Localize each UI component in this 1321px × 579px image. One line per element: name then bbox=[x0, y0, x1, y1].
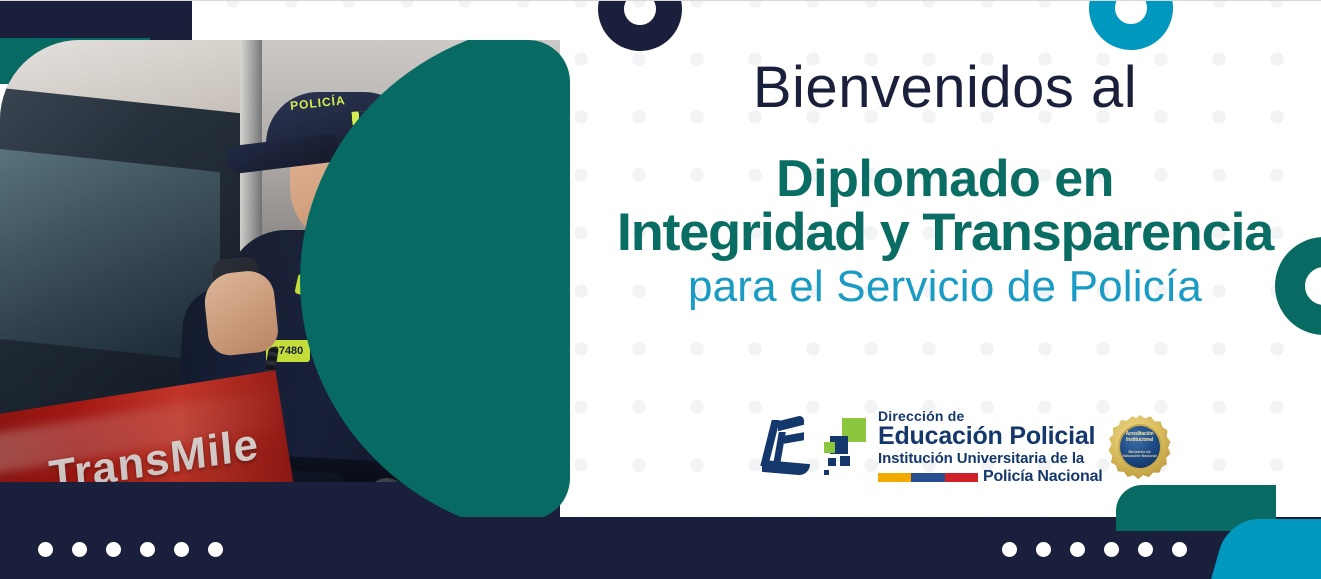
seal-text-secondary: Ministerio de Educación Nacional bbox=[1120, 450, 1160, 459]
book-page-4 bbox=[784, 432, 804, 444]
logo-line-2: Educación Policial bbox=[878, 424, 1103, 449]
course-title-group: Diplomado en Integridad y Transparencia … bbox=[600, 153, 1290, 311]
bottom-dot bbox=[38, 542, 53, 557]
institution-logo: Dirección de Educación Policial Instituc… bbox=[760, 404, 1140, 490]
logo-text-block: Dirección de Educación Policial Instituc… bbox=[878, 409, 1103, 485]
course-subtitle: para el Servicio de Policía bbox=[600, 263, 1290, 311]
flag-stripe-red bbox=[945, 473, 978, 482]
open-book-icon bbox=[760, 416, 816, 478]
pixel-blocks-icon bbox=[822, 416, 872, 478]
bottom-dot bbox=[1172, 542, 1187, 557]
bottom-dot bbox=[1104, 542, 1119, 557]
bottom-dot bbox=[1036, 542, 1051, 557]
pixel-navy-dot bbox=[824, 470, 829, 475]
bottom-dot bbox=[1002, 542, 1017, 557]
bottom-dots-right bbox=[1002, 542, 1187, 557]
flag-stripe-blue bbox=[911, 473, 944, 482]
welcome-text: Bienvenidos al bbox=[600, 58, 1290, 119]
bottom-dot bbox=[140, 542, 155, 557]
course-title-line-1: Diplomado en bbox=[600, 153, 1290, 205]
pixel-green-small bbox=[824, 442, 835, 453]
bottom-dot bbox=[106, 542, 121, 557]
seal-inner-disc: Acreditación Institucional Ministerio de… bbox=[1118, 424, 1162, 470]
bottom-dot bbox=[1138, 542, 1153, 557]
logo-line-3: Institución Universitaria de la bbox=[878, 451, 1103, 466]
book-base bbox=[762, 460, 810, 476]
course-title-line-2: Integridad y Transparencia bbox=[593, 205, 1297, 261]
pixel-navy-small bbox=[828, 458, 836, 466]
bottom-dot bbox=[208, 542, 223, 557]
top-border-line bbox=[0, 0, 1321, 1]
colombia-flag-bar bbox=[878, 473, 978, 482]
flag-stripe-yellow bbox=[878, 473, 911, 482]
bottom-dot bbox=[72, 542, 87, 557]
logo-line-1: Dirección de bbox=[878, 409, 1103, 423]
accreditation-seal-icon: Acreditación Institucional Ministerio de… bbox=[1109, 415, 1171, 479]
pixel-navy-tiny bbox=[840, 456, 850, 466]
headline-group: Bienvenidos al Diplomado en Integridad y… bbox=[600, 58, 1290, 311]
bottom-dot bbox=[1070, 542, 1085, 557]
logo-line-4-row: Policía Nacional bbox=[878, 469, 1103, 485]
seal-text-primary: Acreditación Institucional bbox=[1120, 432, 1160, 444]
logo-line-4: Policía Nacional bbox=[983, 469, 1103, 485]
bottom-dots-left bbox=[38, 542, 223, 557]
bottom-dot bbox=[174, 542, 189, 557]
book-page-2 bbox=[778, 415, 804, 431]
promo-banner: POLICÍA 07480 POLICÍA TransMile bbox=[0, 0, 1321, 579]
